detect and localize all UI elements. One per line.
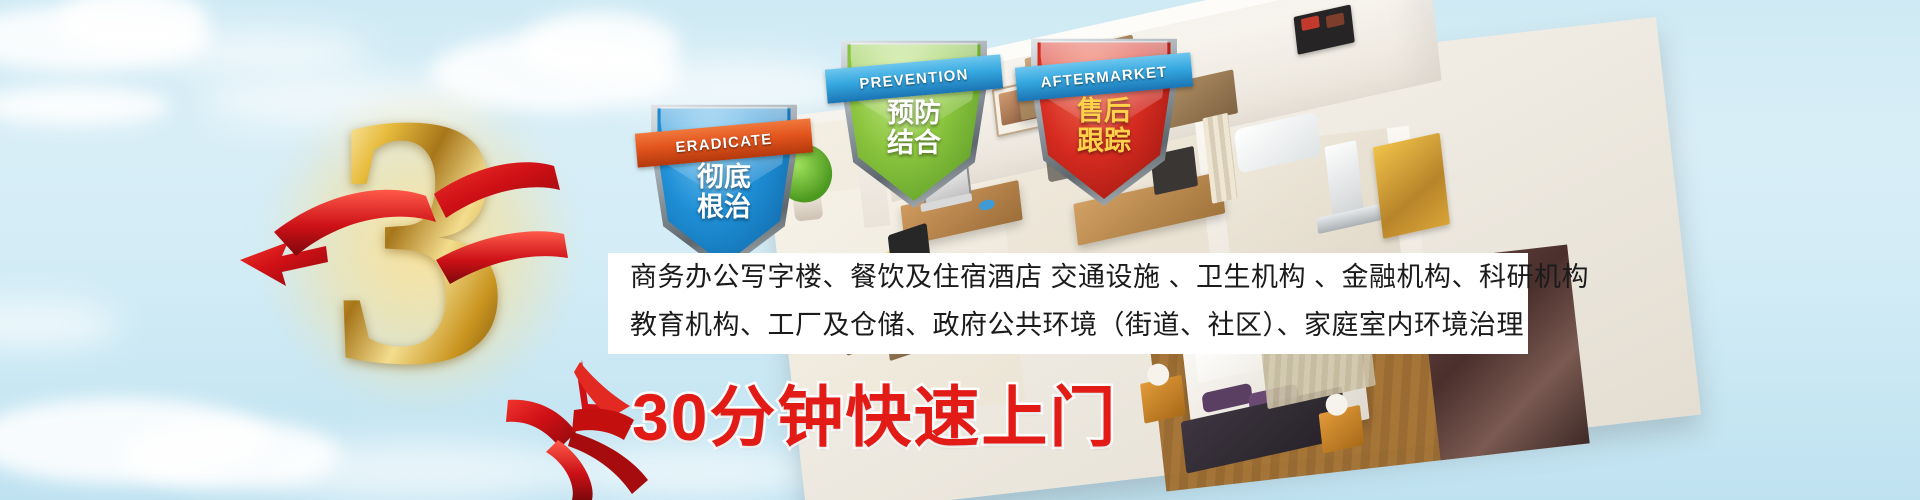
shield-chinese-line2: 根治 bbox=[648, 192, 800, 222]
shield-english-label: ERADICATE bbox=[675, 130, 773, 155]
cloud-shape bbox=[260, 440, 580, 500]
shield-chinese-line1: 售后 bbox=[1028, 96, 1180, 126]
cloud-shape bbox=[0, 86, 170, 126]
shield-aftermarket[interactable]: AFTERMARKET 售后 跟踪 bbox=[1028, 30, 1180, 206]
shield-english-label: AFTERMARKET bbox=[1040, 63, 1168, 91]
shield-chinese-label: 预防 结合 bbox=[838, 98, 990, 158]
service-scope-line-1: 商务办公写字楼、餐饮及住宿酒店 交通设施 、卫生机构 、金融机构、科研机构 bbox=[608, 253, 1528, 301]
gold-numeral-three: 3 bbox=[255, 78, 585, 418]
shield-english-label: PREVENTION bbox=[859, 66, 970, 92]
shield-chinese-line2: 结合 bbox=[838, 128, 990, 158]
numeral-glyph: 3 bbox=[255, 50, 585, 430]
cloud-shape bbox=[0, 300, 120, 348]
shield-prevention[interactable]: PREVENTION 预防 结合 bbox=[838, 32, 990, 208]
shield-chinese-line1: 预防 bbox=[838, 98, 990, 128]
cloud-shape bbox=[58, 0, 208, 54]
promo-banner: 3 bbox=[0, 0, 1920, 500]
shield-chinese-line2: 跟踪 bbox=[1028, 126, 1180, 156]
headline-slogan: 30分钟快速上门 bbox=[632, 364, 1117, 460]
shield-eradicate[interactable]: ERADICATE 彻底 根治 bbox=[648, 96, 800, 272]
shield-chinese-label: 彻底 根治 bbox=[648, 162, 800, 222]
cloud-shape bbox=[0, 6, 210, 72]
shield-chinese-label: 售后 跟踪 bbox=[1028, 96, 1180, 156]
cloud-shape bbox=[120, 420, 340, 490]
cloud-shape bbox=[0, 398, 270, 484]
shield-chinese-line1: 彻底 bbox=[648, 162, 800, 192]
service-scope-panel: 商务办公写字楼、餐饮及住宿酒店 交通设施 、卫生机构 、金融机构、科研机构 教育… bbox=[608, 253, 1528, 354]
service-scope-line-2: 教育机构、工厂及仓储、政府公共环境（街道、社区）、家庭室内环境治理 bbox=[608, 301, 1528, 349]
